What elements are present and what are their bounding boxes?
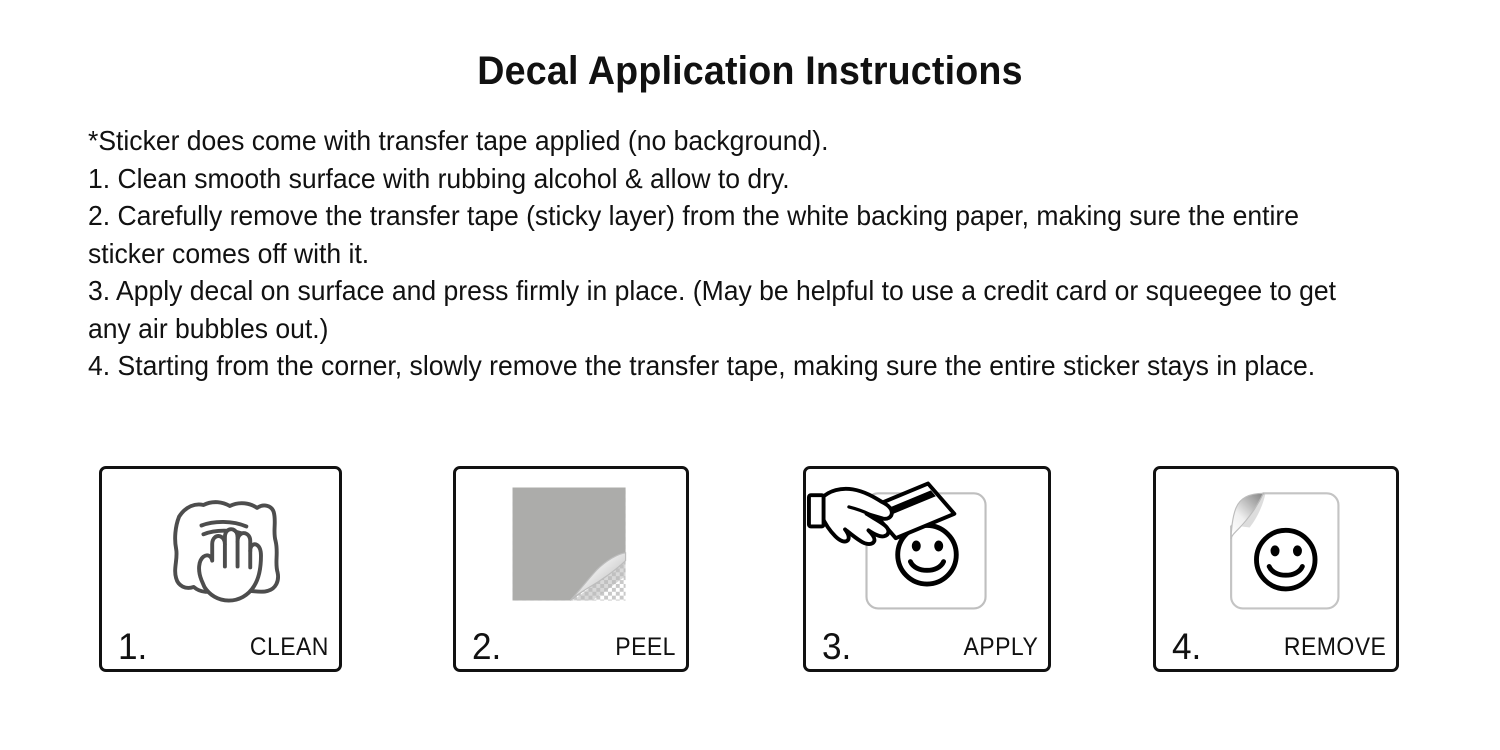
panel-label: REMOVE bbox=[1284, 633, 1386, 661]
decal-instructions-page: Decal Application Instructions *Sticker … bbox=[0, 0, 1500, 750]
instruction-step-3: 3. Apply decal on surface and press firm… bbox=[88, 272, 1362, 347]
instruction-step-1: 1. Clean smooth surface with rubbing alc… bbox=[88, 160, 1362, 198]
step-panels-row: 1. CLEAN bbox=[0, 466, 1500, 676]
instruction-step-4: 4. Starting from the corner, slowly remo… bbox=[88, 347, 1362, 385]
instructions-note: *Sticker does come with transfer tape ap… bbox=[88, 122, 1362, 160]
panel-number: 3. bbox=[822, 627, 851, 667]
panel-label: CLEAN bbox=[250, 633, 329, 661]
page-title: Decal Application Instructions bbox=[45, 48, 1455, 94]
panel-label: PEEL bbox=[615, 633, 676, 661]
step-panel-remove: 4. REMOVE bbox=[1153, 466, 1399, 672]
instruction-step-2: 2. Carefully remove the transfer tape (s… bbox=[88, 197, 1362, 272]
step-panel-clean: 1. CLEAN bbox=[99, 466, 342, 672]
peeling-transfer-tape-icon bbox=[1156, 469, 1396, 621]
smiley-face bbox=[1256, 530, 1315, 589]
panel-number: 1. bbox=[118, 627, 147, 667]
peeling-backing-sheet-icon bbox=[456, 469, 686, 621]
panel-label: APPLY bbox=[963, 633, 1038, 661]
step-panel-apply: 3. APPLY bbox=[803, 466, 1051, 672]
hand-with-credit-card-squeegee-icon bbox=[806, 469, 1048, 621]
step-panel-peel: 2. PEEL bbox=[453, 466, 689, 672]
instructions-block: *Sticker does come with transfer tape ap… bbox=[88, 122, 1362, 385]
panel-number: 2. bbox=[472, 627, 501, 667]
panel-number: 4. bbox=[1172, 627, 1201, 667]
hand-wiping-cloth-icon bbox=[102, 469, 339, 621]
